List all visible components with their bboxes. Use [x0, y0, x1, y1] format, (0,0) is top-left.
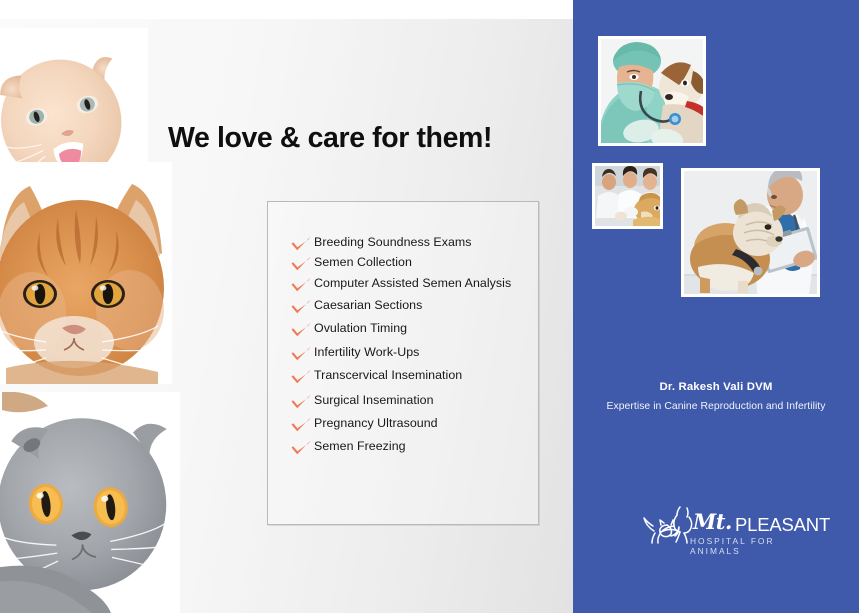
check-icon	[290, 298, 314, 316]
service-label: Ovulation Timing	[314, 320, 407, 336]
list-item: Transcervical Insemination	[290, 367, 540, 392]
check-icon	[290, 235, 314, 253]
list-item: Semen Freezing	[290, 438, 540, 460]
top-white-strip	[0, 0, 574, 19]
check-icon	[290, 345, 314, 363]
service-label: Breeding Soundness Exams	[314, 234, 472, 250]
list-item: Surgical Insemination	[290, 392, 540, 415]
service-label: Caesarian Sections	[314, 297, 422, 313]
vet-bulldog-photo	[681, 168, 820, 297]
doctor-subtitle: Expertise in Canine Reproduction and Inf…	[573, 401, 859, 412]
list-item: Ovulation Timing	[290, 320, 540, 344]
dog-and-cat-icon	[640, 503, 696, 545]
page-title: We love & care for them!	[168, 122, 558, 155]
service-label: Transcervical Insemination	[314, 367, 462, 383]
service-label: Infertility Work-Ups	[314, 344, 419, 360]
service-label: Semen Collection	[314, 254, 412, 270]
service-label: Semen Freezing	[314, 438, 406, 454]
vet-beagle-photo	[598, 36, 706, 146]
service-label: Pregnancy Ultrasound	[314, 415, 438, 431]
list-item: Semen Collection	[290, 254, 540, 275]
list-item: Caesarian Sections	[290, 297, 540, 320]
orange-tabby-photo	[0, 162, 172, 384]
logo-wordmark: PLEASANT	[735, 514, 830, 536]
check-icon	[290, 276, 314, 294]
brochure-page: We love & care for them! Breeding Soundn…	[0, 0, 859, 613]
check-icon	[290, 439, 314, 457]
service-label: Computer Assisted Semen Analysis	[314, 275, 511, 291]
hospital-logo: Mt. PLEASANT HOSPITAL FOR ANIMALS	[640, 503, 793, 551]
list-item: Breeding Soundness Exams	[290, 234, 540, 254]
check-icon	[290, 368, 314, 386]
service-label: Surgical Insemination	[314, 392, 434, 408]
list-item: Computer Assisted Semen Analysis	[290, 275, 540, 297]
services-list: Breeding Soundness Exams Semen Collectio…	[290, 234, 540, 460]
list-item: Infertility Work-Ups	[290, 344, 540, 367]
doctor-name: Dr. Rakesh Vali DVM	[573, 381, 859, 393]
list-item: Pregnancy Ultrasound	[290, 415, 540, 438]
check-icon	[290, 393, 314, 411]
check-icon	[290, 255, 314, 273]
logo-script-text: Mt.	[693, 509, 732, 534]
vet-team-photo	[592, 163, 663, 229]
check-icon	[290, 416, 314, 434]
check-icon	[290, 321, 314, 339]
grey-cat-photo	[0, 392, 180, 613]
logo-tagline: HOSPITAL FOR ANIMALS	[690, 536, 793, 556]
